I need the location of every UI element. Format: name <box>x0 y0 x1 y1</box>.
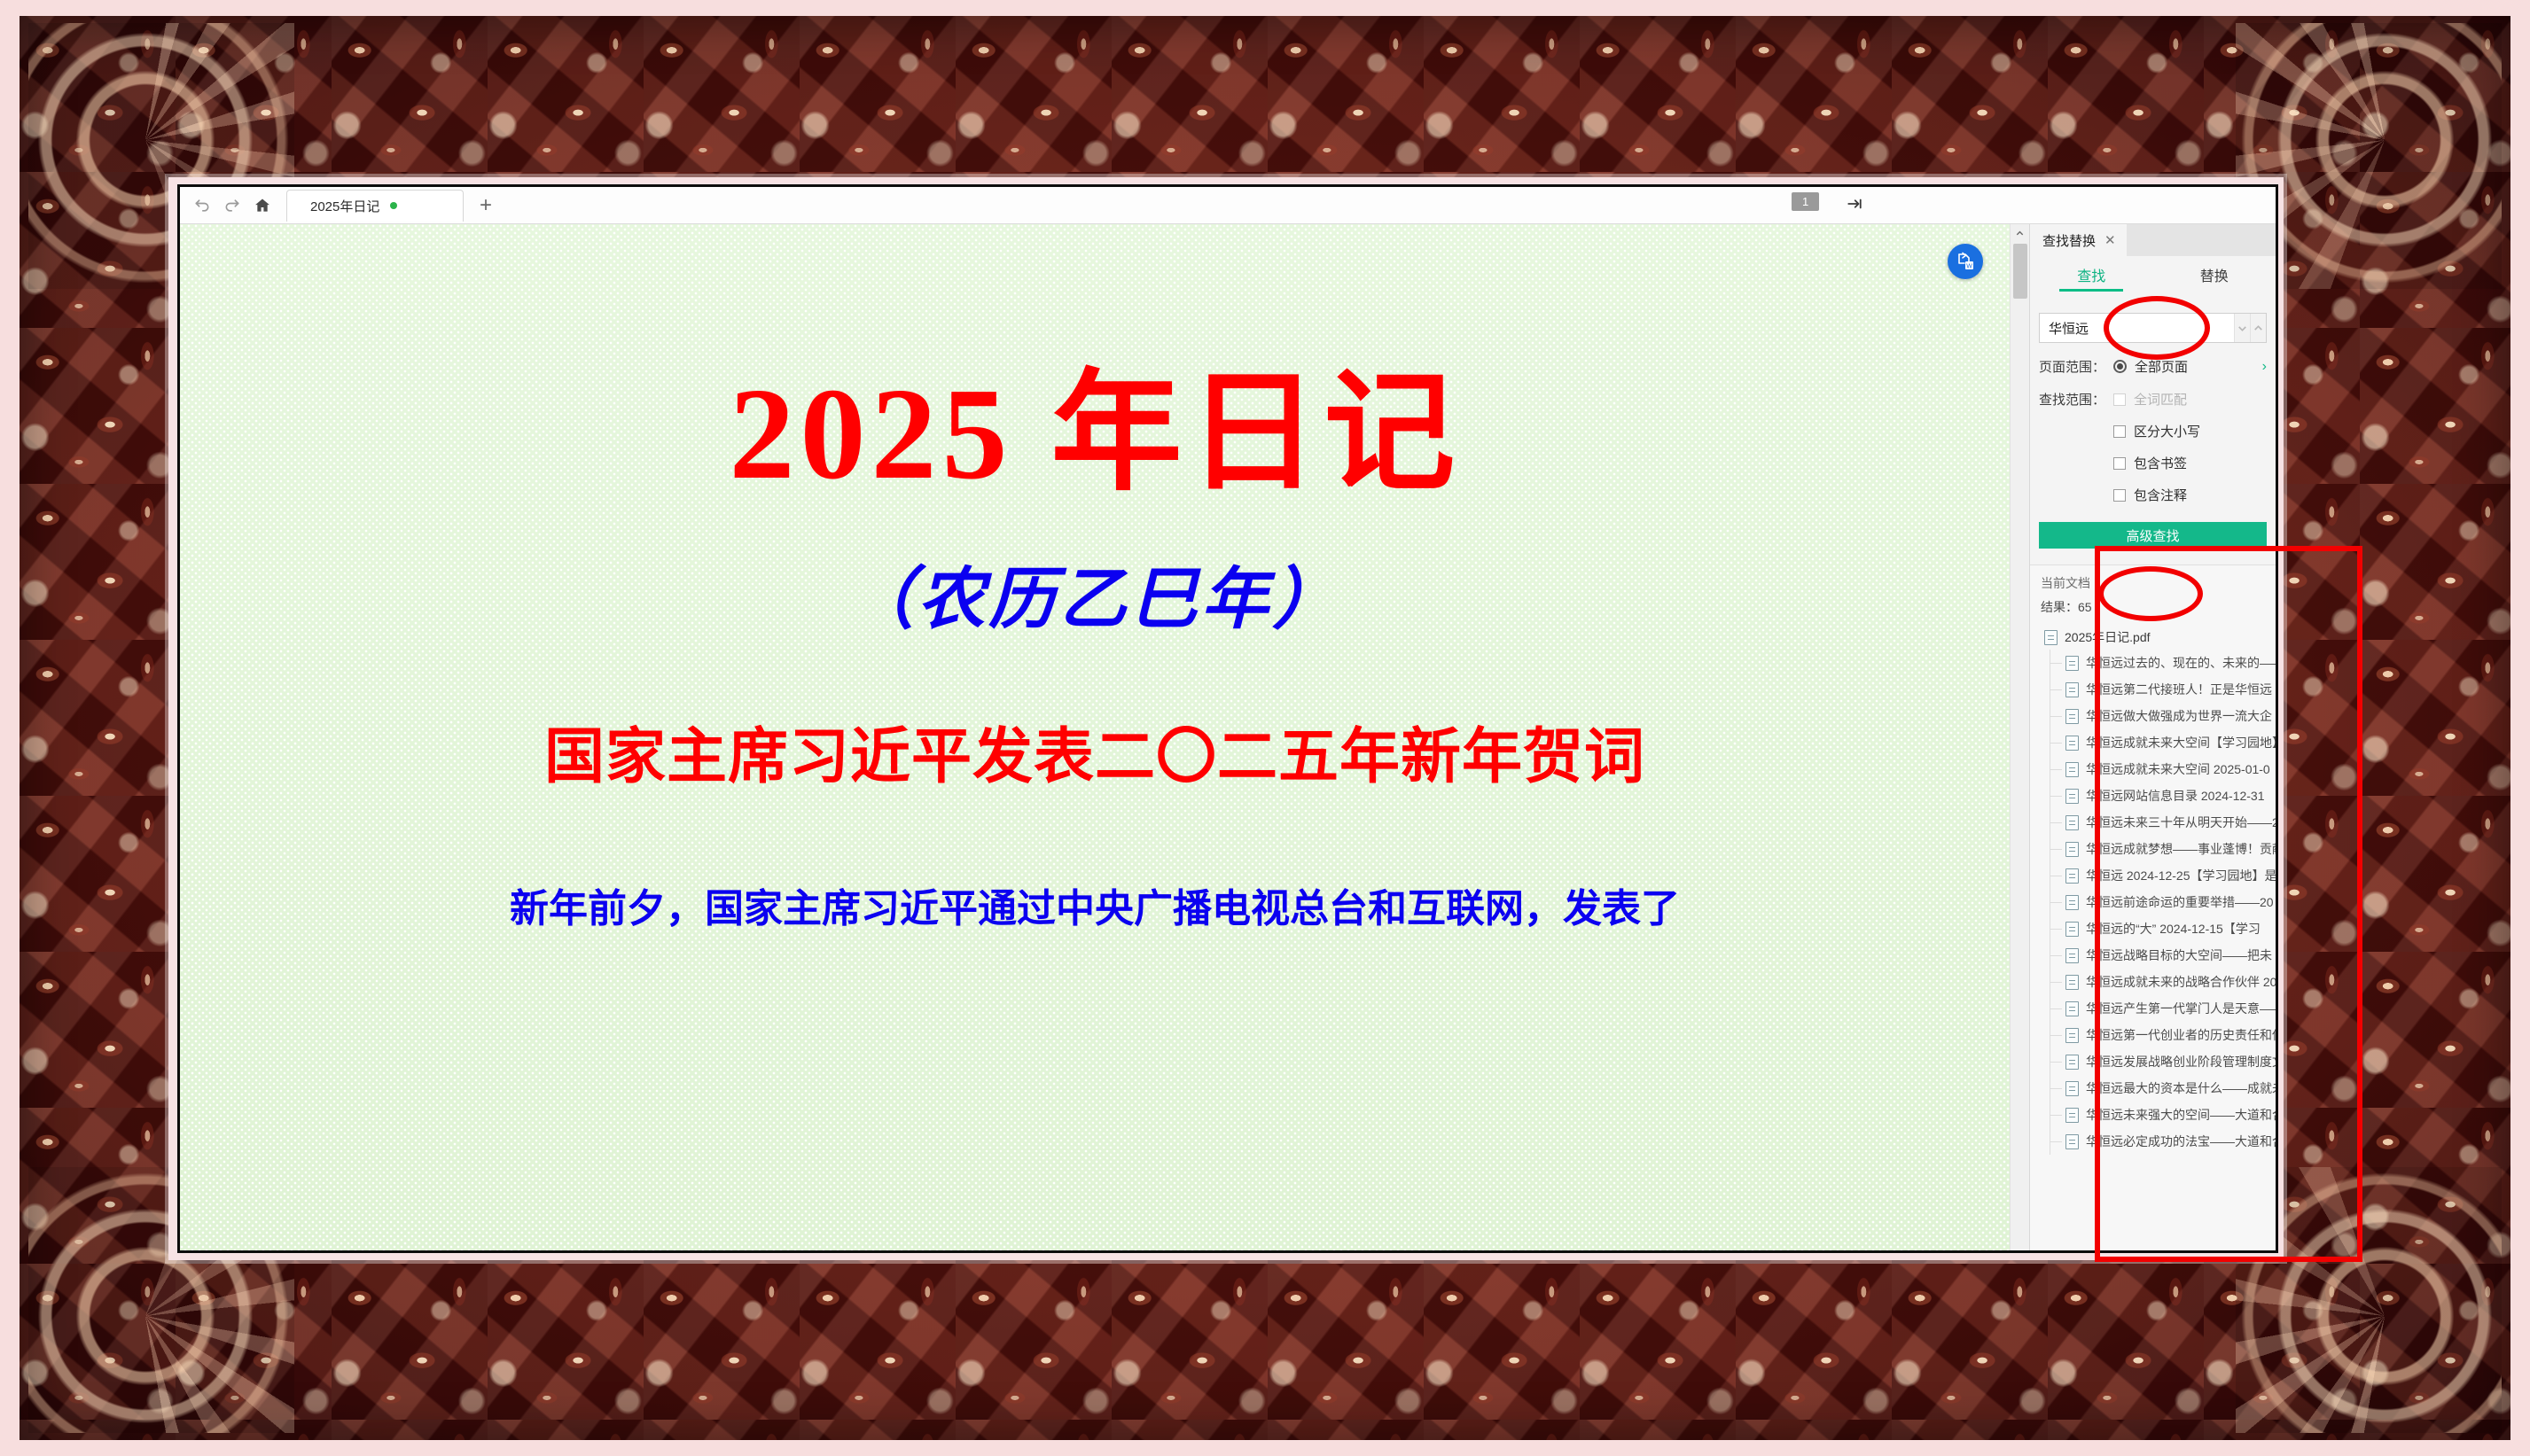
list-item[interactable]: 华恒远做大做强成为世界一流大企 <box>2030 703 2276 729</box>
find-replace-panel: 查找替换 ✕ 查找 替换 页面范围： 全部页面 <box>2029 224 2276 1250</box>
list-item[interactable]: 华恒远过去的、现在的、未来的—— <box>2030 650 2276 676</box>
pdf-page-content: 2025 年日记 （农历乙巳年） 国家主席习近平发表二〇二五年新年贺词 新年前夕… <box>180 224 2010 1250</box>
list-item-label: 华恒远 2024-12-25【学习园地】是 <box>2086 867 2276 884</box>
document-icon <box>2065 762 2079 777</box>
list-item-label: 华恒远战略目标的大空间——把未 <box>2086 946 2272 964</box>
list-item[interactable]: 华恒远成就未来的战略合作伙伴 20 <box>2030 969 2276 995</box>
search-results-tree[interactable]: 2025年日记.pdf 华恒远过去的、现在的、未来的——华恒远第二代接班人！正是… <box>2030 618 2276 1250</box>
page-scope-value: 全部页面 <box>2135 357 2188 376</box>
document-icon <box>2044 630 2058 645</box>
browser-toolbar: 2025年日记 + 1 <box>180 187 2276 224</box>
list-item[interactable]: 华恒远成就未来大空间 2025-01-0 <box>2030 756 2276 783</box>
results-scope-label: 当前文档 <box>2041 574 2265 592</box>
results-count-label: 结果：65 <box>2041 598 2265 616</box>
document-icon <box>2065 1134 2079 1149</box>
list-item-label: 华恒远产生第一代掌门人是天意—— <box>2086 1000 2276 1017</box>
document-icon <box>2065 682 2079 697</box>
article-lead-paragraph: 新年前夕，国家主席习近平通过中央广播电视总台和互联网，发表了 <box>510 876 1680 933</box>
list-item[interactable]: 华恒远第二代接班人！正是华恒远 <box>2030 676 2276 703</box>
document-tab-label: 2025年日记 <box>310 197 379 215</box>
document-icon <box>2065 656 2079 671</box>
tab-replace[interactable]: 替换 <box>2153 256 2276 293</box>
find-scope-row: 查找范围： 全词匹配 <box>2039 390 2267 409</box>
document-icon <box>2065 736 2079 751</box>
list-item[interactable]: 华恒远必定成功的法宝——大道和合 <box>2030 1128 2276 1155</box>
checkbox-whole-word[interactable] <box>2113 393 2126 406</box>
find-panel-title: 查找替换 <box>2042 231 2096 250</box>
find-scope-case-row: 区分大小写 <box>2113 422 2267 440</box>
list-item[interactable]: 华恒远最大的资本是什么——成就未 <box>2030 1075 2276 1102</box>
list-item[interactable]: 华恒远 2024-12-25【学习园地】是 <box>2030 862 2276 889</box>
document-icon <box>2065 1055 2079 1070</box>
list-item[interactable]: 华恒远第一代创业者的历史责任和使 <box>2030 1022 2276 1048</box>
document-icon <box>2065 948 2079 963</box>
document-icon <box>2065 868 2079 884</box>
document-icon <box>2065 975 2079 990</box>
tab-modified-dot <box>390 202 397 209</box>
list-item-label: 华恒远做大做强成为世界一流大企 <box>2086 707 2272 725</box>
list-item[interactable]: 华恒远网站信息目录 2024-12-31 <box>2030 783 2276 809</box>
document-icon <box>2065 922 2079 937</box>
page-scope-label: 页面范围： <box>2039 357 2113 376</box>
list-item-label: 华恒远发展战略创业阶段管理制度文 <box>2086 1053 2276 1071</box>
page-title: 2025 年日记 <box>730 366 1461 503</box>
forward-arrow-icon[interactable] <box>217 191 247 221</box>
list-item-label: 华恒远成就未来大空间 2025-01-0 <box>2086 760 2270 778</box>
checkbox-include-bookmarks-label: 包含书签 <box>2134 454 2187 472</box>
scroll-up-icon[interactable] <box>2011 224 2029 242</box>
pdf-reader-window: 2025年日记 + 1 W <box>177 184 2278 1253</box>
page-subtitle: （农历乙巳年） <box>847 544 1343 642</box>
find-scope-bookmark-row: 包含书签 <box>2113 454 2267 472</box>
list-item-label: 华恒远过去的、现在的、未来的—— <box>2086 654 2276 672</box>
checkbox-match-case[interactable] <box>2113 425 2126 438</box>
pdf-page-viewer[interactable]: W 2025 年日记 （农历乙巳年） 国家主席习近平发表二〇二五年新年贺词 新年… <box>180 224 2010 1250</box>
find-scope-comment-row: 包含注释 <box>2113 486 2267 504</box>
document-icon <box>2065 815 2079 830</box>
list-item[interactable]: 华恒远产生第一代掌门人是天意—— <box>2030 995 2276 1022</box>
checkbox-include-bookmarks[interactable] <box>2113 457 2126 470</box>
list-item-label: 华恒远成就未来的战略合作伙伴 20 <box>2086 973 2276 991</box>
find-scope-label: 查找范围： <box>2039 390 2113 409</box>
search-field-row <box>2039 313 2267 343</box>
document-icon <box>2065 895 2079 910</box>
advanced-find-button[interactable]: 高级查找 <box>2039 522 2267 549</box>
viewer-scrollbar[interactable] <box>2010 224 2029 1250</box>
document-icon <box>2065 1028 2079 1043</box>
page-number-badge: 1 <box>1792 192 1819 211</box>
window-body: W 2025 年日记 （农历乙巳年） 国家主席习近平发表二〇二五年新年贺词 新年… <box>180 224 2276 1250</box>
new-tab-button[interactable]: + <box>472 192 499 219</box>
document-icon <box>2065 1001 2079 1016</box>
results-root-node[interactable]: 2025年日记.pdf <box>2030 625 2276 650</box>
close-icon[interactable]: ✕ <box>2104 232 2116 248</box>
list-item[interactable]: 华恒远发展战略创业阶段管理制度文 <box>2030 1048 2276 1075</box>
document-icon <box>2065 1108 2079 1123</box>
article-headline: 国家主席习近平发表二〇二五年新年贺词 <box>544 707 1645 795</box>
list-item[interactable]: 华恒远成就未来大空间【学习园地】 <box>2030 729 2276 756</box>
list-item-label: 华恒远前途命运的重要举措——20 <box>2086 893 2274 911</box>
document-icon <box>2065 789 2079 804</box>
back-arrow-icon[interactable] <box>187 191 217 221</box>
list-item-label: 华恒远未来强大的空间——大道和合 <box>2086 1106 2276 1124</box>
list-item[interactable]: 华恒远战略目标的大空间——把未 <box>2030 942 2276 969</box>
list-item-label: 华恒远成就未来大空间【学习园地】 <box>2086 734 2276 751</box>
list-item[interactable]: 华恒远成就梦想——事业蓬博！贡献 <box>2030 836 2276 862</box>
scrollbar-thumb[interactable] <box>2013 244 2027 299</box>
chevron-right-icon[interactable]: › <box>2262 359 2267 375</box>
list-item[interactable]: 华恒远前途命运的重要举措——20 <box>2030 889 2276 915</box>
list-item-label: 华恒远未来三十年从明天开始——2 <box>2086 814 2276 831</box>
document-icon <box>2065 709 2079 724</box>
search-input[interactable] <box>2040 314 2234 342</box>
checkbox-include-comments-label: 包含注释 <box>2134 486 2187 504</box>
checkbox-whole-word-label: 全词匹配 <box>2134 390 2187 409</box>
tab-find[interactable]: 查找 <box>2030 256 2153 293</box>
list-item[interactable]: 华恒远的“大” 2024-12-15【学习 <box>2030 915 2276 942</box>
list-item-label: 华恒远网站信息目录 2024-12-31 <box>2086 787 2265 805</box>
list-item-label: 华恒远成就梦想——事业蓬博！贡献 <box>2086 840 2276 858</box>
chevron-up-icon[interactable] <box>2250 314 2266 342</box>
list-item-label: 华恒远第一代创业者的历史责任和使 <box>2086 1026 2276 1044</box>
list-item-label: 华恒远的“大” 2024-12-15【学习 <box>2086 920 2261 938</box>
list-item[interactable]: 华恒远未来三十年从明天开始——2 <box>2030 809 2276 836</box>
find-panel-tab[interactable]: 查找替换 ✕ <box>2030 224 2127 256</box>
find-panel-titlebar: 查找替换 ✕ <box>2030 224 2276 256</box>
document-tab[interactable]: 2025年日记 <box>286 190 464 222</box>
search-results-header: 当前文档 结果：65 <box>2030 565 2276 618</box>
checkbox-include-comments[interactable] <box>2113 489 2126 502</box>
search-results-section: 当前文档 结果：65 2025年日记.pdf 华恒远过去的、现在的、未来的——华… <box>2030 564 2276 1250</box>
collapse-right-icon[interactable] <box>1847 196 1862 216</box>
list-item[interactable]: 华恒远未来强大的空间——大道和合 <box>2030 1102 2276 1128</box>
list-item-label: 华恒远第二代接班人！正是华恒远 <box>2086 681 2272 698</box>
checkbox-match-case-label: 区分大小写 <box>2134 422 2200 440</box>
chevron-down-icon[interactable] <box>2234 314 2250 342</box>
list-item-label: 华恒远最大的资本是什么——成就未 <box>2086 1079 2276 1097</box>
results-root-label: 2025年日记.pdf <box>2065 628 2151 646</box>
document-icon <box>2065 1081 2079 1096</box>
page-scope-row: 页面范围： 全部页面 › <box>2039 357 2267 376</box>
find-panel-tabstrip: 查找 替换 <box>2030 256 2276 293</box>
home-icon[interactable] <box>247 191 277 221</box>
list-item-label: 华恒远必定成功的法宝——大道和合 <box>2086 1133 2276 1150</box>
document-icon <box>2065 842 2079 857</box>
radio-all-pages[interactable] <box>2113 360 2127 373</box>
